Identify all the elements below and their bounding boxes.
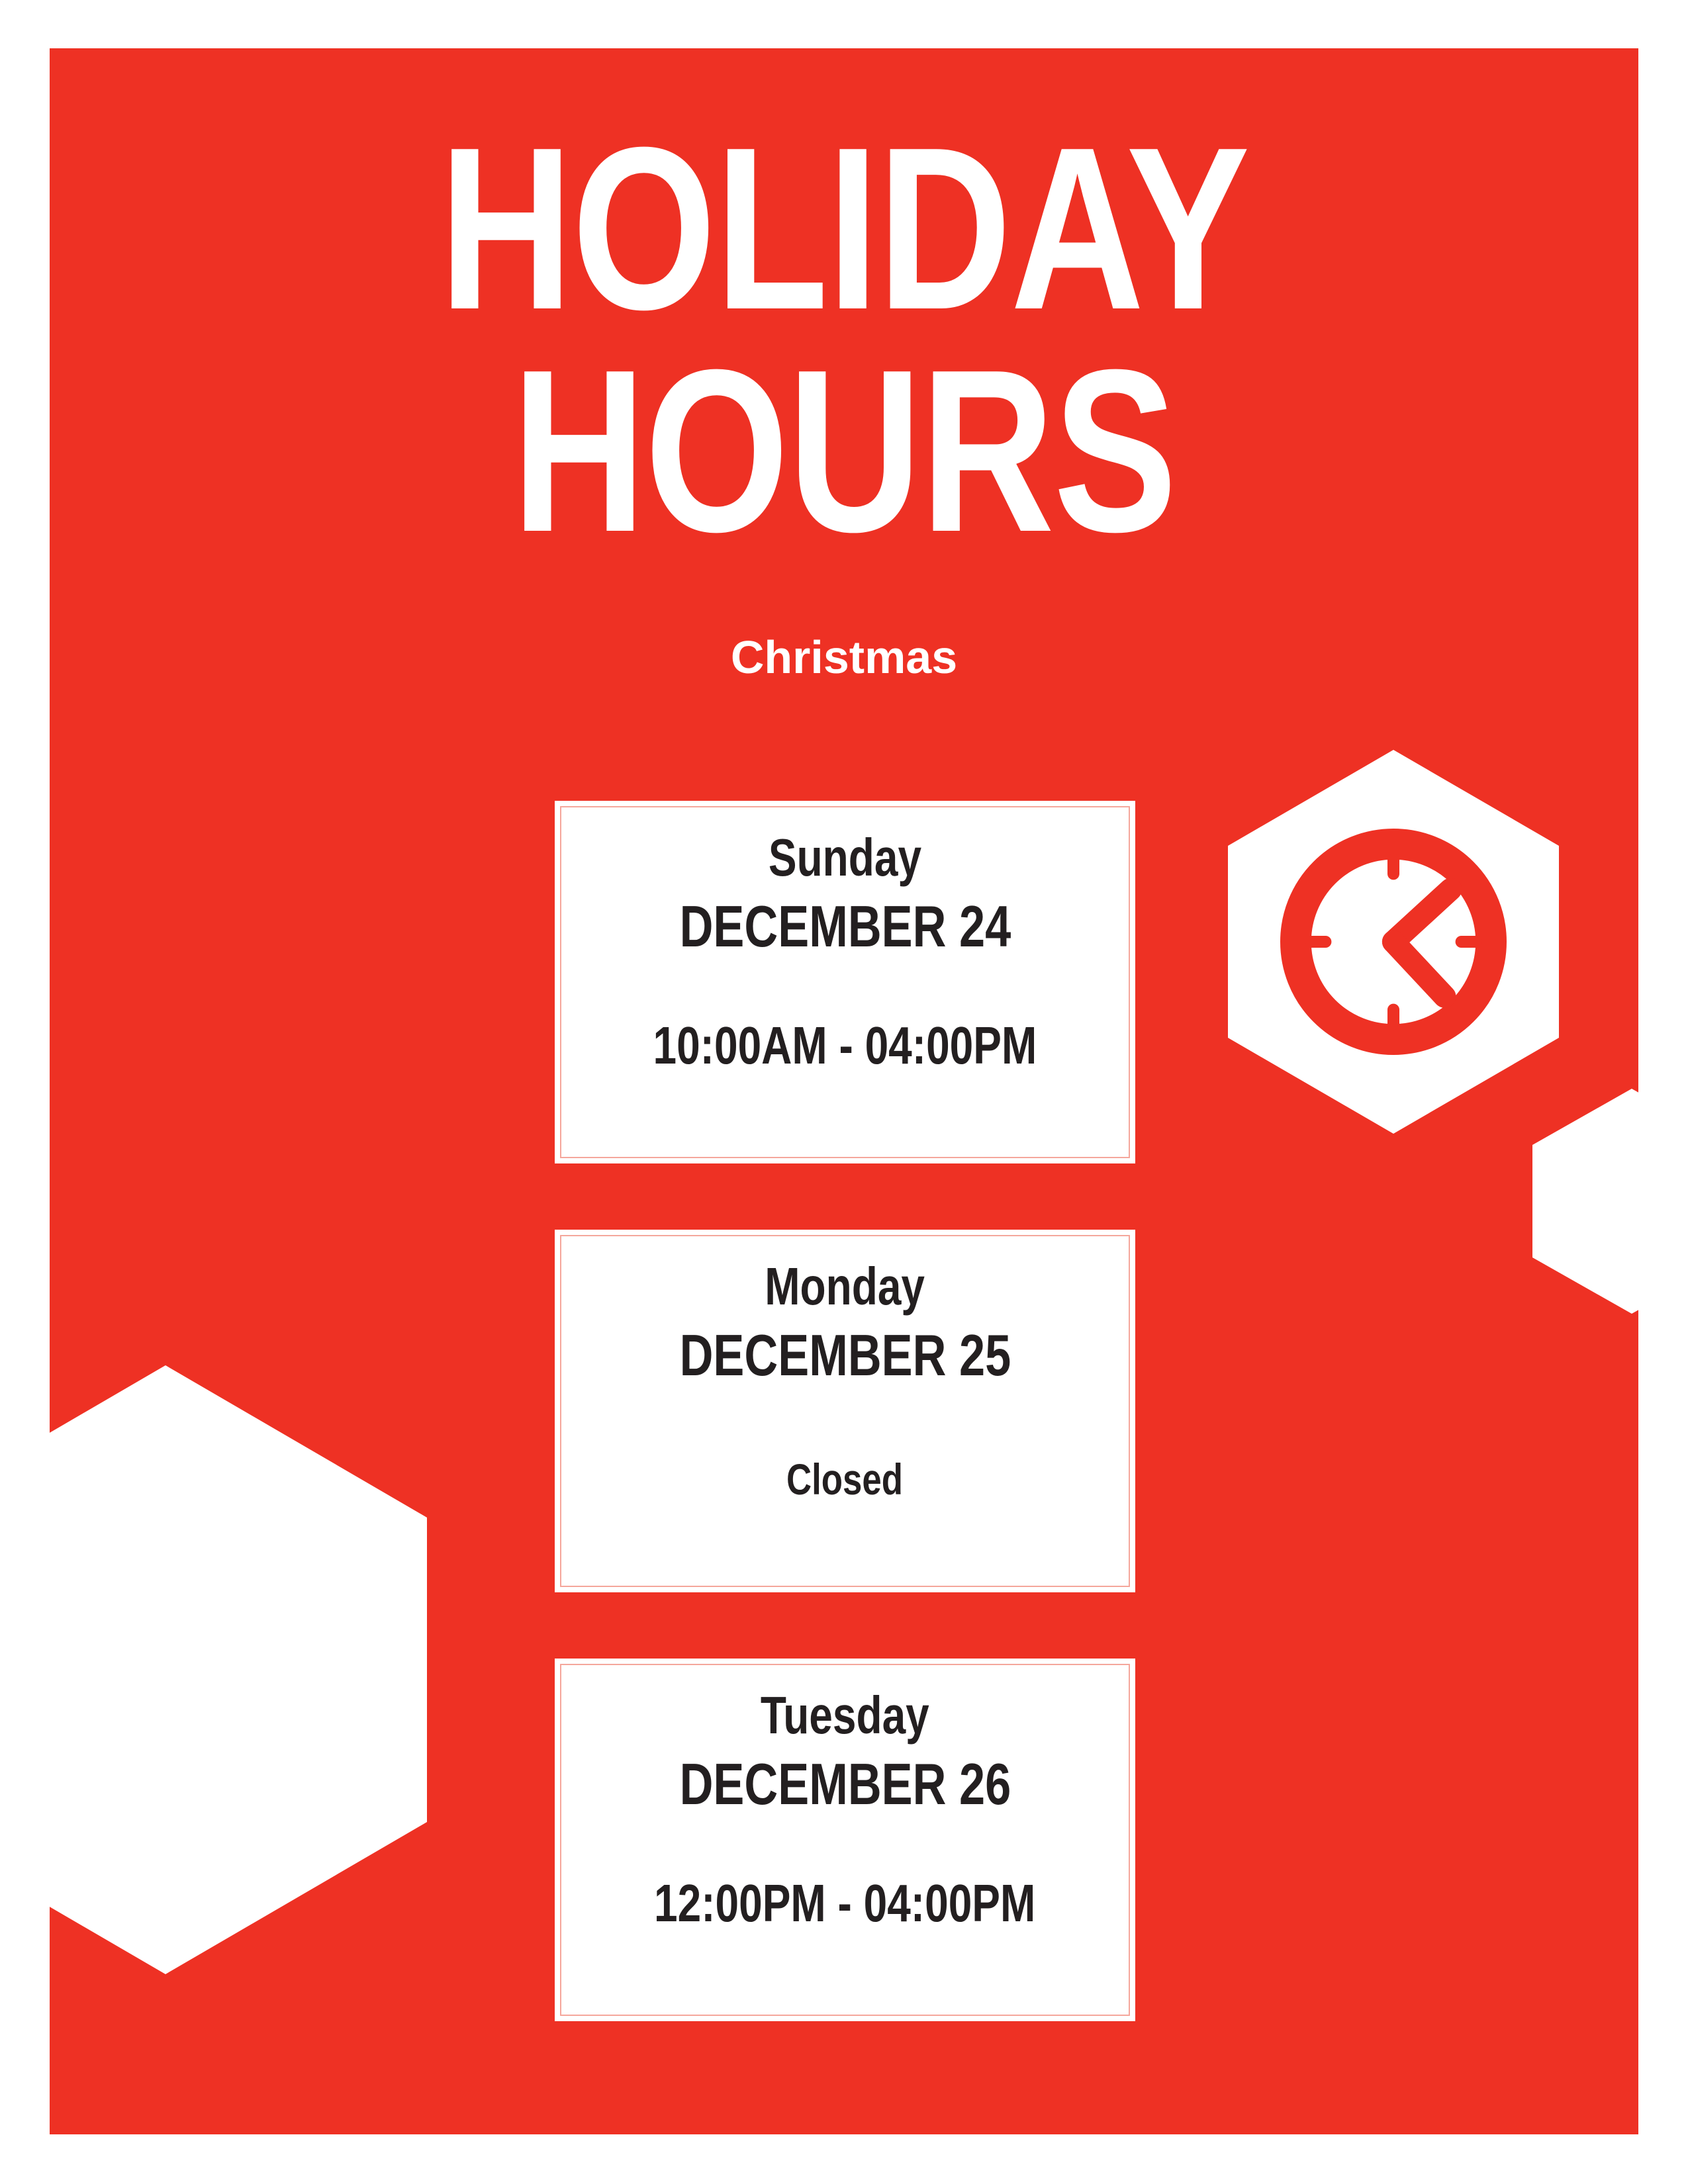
clock-icon [1274, 823, 1513, 1061]
schedule-card-list: Sunday DECEMBER 24 10:00AM - 04:00PM Mon… [555, 801, 1135, 2021]
hexagon-decoration-small [1532, 1089, 1638, 1314]
card-hours: 10:00AM - 04:00PM [653, 1019, 1037, 1072]
card-hours: 12:00PM - 04:00PM [654, 1877, 1035, 1930]
page-subtitle: Christmas [50, 631, 1638, 684]
card-hours: Closed [786, 1457, 903, 1501]
holiday-hours-poster: HOLIDAY HOURS Christmas Sunday [0, 0, 1688, 2184]
card-weekday: Sunday [769, 831, 921, 884]
page-title: HOLIDAY HOURS [50, 118, 1638, 563]
title-line-1: HOLIDAY [209, 118, 1479, 340]
title-line-2: HOURS [209, 340, 1479, 563]
card-weekday: Tuesday [761, 1689, 929, 1742]
schedule-card: Sunday DECEMBER 24 10:00AM - 04:00PM [555, 801, 1135, 1163]
card-date: DECEMBER 24 [679, 897, 1011, 956]
card-weekday: Monday [765, 1260, 925, 1313]
card-date: DECEMBER 26 [679, 1755, 1011, 1813]
schedule-card: Tuesday DECEMBER 26 12:00PM - 04:00PM [555, 1659, 1135, 2021]
schedule-card: Monday DECEMBER 25 Closed [555, 1230, 1135, 1592]
poster-background-panel: HOLIDAY HOURS Christmas Sunday [50, 48, 1638, 2134]
card-date: DECEMBER 25 [679, 1326, 1011, 1385]
hexagon-decoration-corner [50, 1365, 427, 1974]
